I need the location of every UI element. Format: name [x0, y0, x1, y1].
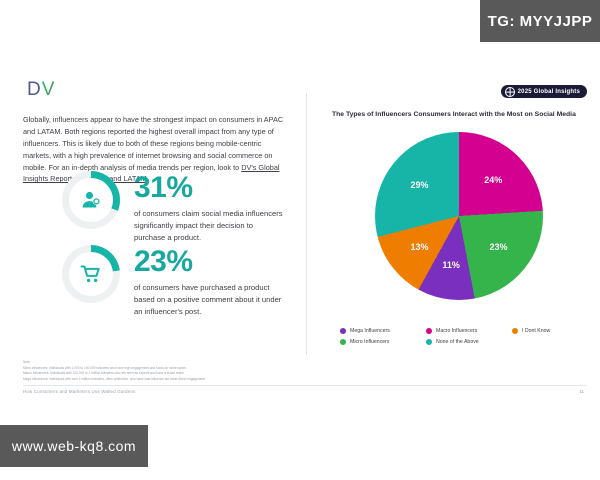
- slide-page: DV 2025 Global Insights Globally, influe…: [0, 47, 600, 417]
- global-insights-badge: 2025 Global Insights: [501, 85, 587, 98]
- globe-icon: [505, 87, 515, 97]
- legend-swatch-icon: [426, 328, 432, 334]
- stat-value: 31%: [134, 173, 284, 203]
- tg-watermark-banner: TG: MYYJJPP: [480, 0, 600, 42]
- footer-document-title: How Consumers and Marketers Use Walled G…: [23, 389, 136, 394]
- stat-text-group: 23% of consumers have purchased a produc…: [134, 245, 284, 317]
- legend-item-mega-influencers[interactable]: Mega Influencers: [340, 328, 426, 334]
- pie-slice-label-macro: 24%: [484, 175, 502, 185]
- footnote-heading: Note:: [23, 360, 313, 364]
- global-insights-badge-label: 2025 Global Insights: [518, 89, 580, 95]
- pie-chart-legend: Mega Influencers Macro Influencers I Don…: [340, 325, 586, 347]
- pie-slice-label-none: 29%: [410, 180, 428, 190]
- stat-description: of consumers claim social media influenc…: [134, 208, 284, 243]
- footnote-line: Mega Influencers: Individuals with over …: [23, 377, 313, 383]
- donut-progress-23: [62, 245, 120, 303]
- legend-label: Micro Influencers: [350, 339, 390, 345]
- legend-swatch-icon: [512, 328, 518, 334]
- legend-label: I Dont Know: [522, 328, 550, 334]
- pie-slice-label-micro: 23%: [489, 242, 507, 252]
- stat-description: of consumers have purchased a product ba…: [134, 282, 284, 317]
- legend-label: None of the Above: [436, 339, 479, 345]
- legend-item-i-dont-know[interactable]: I Dont Know: [512, 328, 586, 334]
- stat-value: 23%: [134, 247, 284, 277]
- site-watermark-text: www.web-kq8.com: [12, 438, 136, 454]
- user-profile-icon: [62, 171, 120, 229]
- tg-watermark-text: TG: MYYJJPP: [488, 13, 593, 30]
- site-watermark-banner: www.web-kq8.com: [0, 425, 148, 467]
- pie-slice-label-dont-know: 13%: [410, 242, 428, 252]
- legend-swatch-icon: [340, 328, 346, 334]
- legend-swatch-icon: [426, 339, 432, 345]
- pie-chart: 24% 23% 11% 13% 29%: [375, 132, 543, 300]
- stat-block-purchase-impact: 31% of consumers claim social media infl…: [62, 171, 284, 243]
- legend-label: Macro Influencers: [436, 328, 477, 334]
- stat-text-group: 31% of consumers claim social media infl…: [134, 171, 284, 243]
- donut-progress-31: [62, 171, 120, 229]
- pie-slice-label-mega: 11%: [442, 260, 460, 270]
- legend-item-macro-influencers[interactable]: Macro Influencers: [426, 328, 512, 334]
- pie-chart-surface: [375, 132, 543, 300]
- dv-logo-letter-v: V: [42, 79, 56, 100]
- footnotes: Note: Micro Influencers: Individuals wit…: [23, 360, 313, 382]
- shopping-cart-icon: [62, 245, 120, 303]
- dv-logo: DV: [27, 79, 55, 101]
- legend-label: Mega Influencers: [350, 328, 390, 334]
- legend-item-micro-influencers[interactable]: Micro Influencers: [340, 339, 426, 345]
- dv-logo-letter-d: D: [27, 79, 42, 100]
- legend-item-none-of-the-above[interactable]: None of the Above: [426, 339, 512, 345]
- column-divider: [306, 93, 307, 355]
- chart-title: The Types of Influencers Consumers Inter…: [332, 110, 582, 120]
- stat-block-purchase-from-comment: 23% of consumers have purchased a produc…: [62, 245, 284, 317]
- page-number: 11: [579, 389, 584, 394]
- footer-divider: [23, 385, 586, 386]
- legend-swatch-icon: [340, 339, 346, 345]
